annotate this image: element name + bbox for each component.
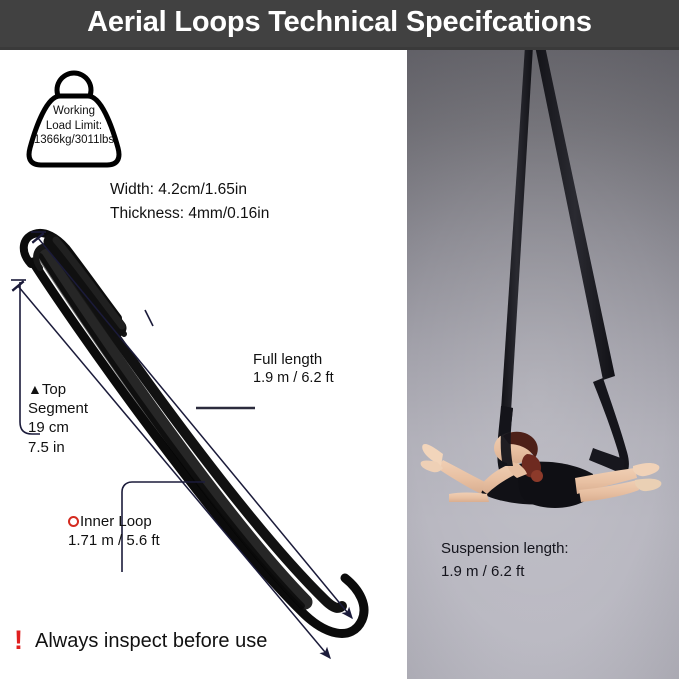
top-segment-label-1: Top (42, 381, 66, 398)
callout-top-segment: ▲Top Segment 19 cm 7.5 in (28, 380, 88, 457)
inspect-warning: ! Always inspect before use (14, 628, 267, 655)
photo-content (407, 50, 679, 679)
page-title: Aerial Loops Technical Specifcations (87, 8, 592, 39)
top-segment-label-2: Segment (28, 399, 88, 418)
inner-loop-label: Inner Loop (80, 513, 152, 530)
callout-inner-loop: Inner Loop 1.71 m / 5.6 ft (68, 512, 160, 550)
suspension-label-text: Suspension length: (441, 537, 569, 560)
working-load-limit-weight-icon: Working Load Limit: 1366kg/3011lbs (14, 60, 134, 175)
triangle-marker-icon: ▲ (28, 381, 42, 397)
suspension-value-text: 1.9 m / 6.2 ft (441, 560, 569, 583)
suspension-length-label: Suspension length: 1.9 m / 6.2 ft (441, 537, 569, 584)
infographic-root: Aerial Loops Technical Specifcations Wor… (0, 0, 679, 679)
diagram-panel: Working Load Limit: 1366kg/3011lbs Width… (0, 50, 407, 679)
inspect-warning-text: Always inspect before use (35, 630, 267, 653)
circle-marker-icon (68, 516, 79, 527)
full-length-value: 1.9 m / 6.2 ft (253, 369, 334, 388)
top-segment-value-in: 7.5 in (28, 438, 88, 457)
inner-loop-line-1: Inner Loop (68, 512, 160, 531)
exclamation-icon: ! (14, 627, 23, 654)
aerialist-in-loops-photo: Suspension length: 1.9 m / 6.2 ft (407, 50, 679, 679)
inner-loop-value: 1.71 m / 5.6 ft (68, 531, 160, 550)
full-length-label: Full length (253, 350, 334, 369)
top-segment-line-1: ▲Top (28, 380, 88, 399)
callout-full-length: Full length 1.9 m / 6.2 ft (253, 350, 334, 388)
top-segment-value-cm: 19 cm (28, 418, 88, 437)
header-bar: Aerial Loops Technical Specifcations (0, 0, 679, 47)
